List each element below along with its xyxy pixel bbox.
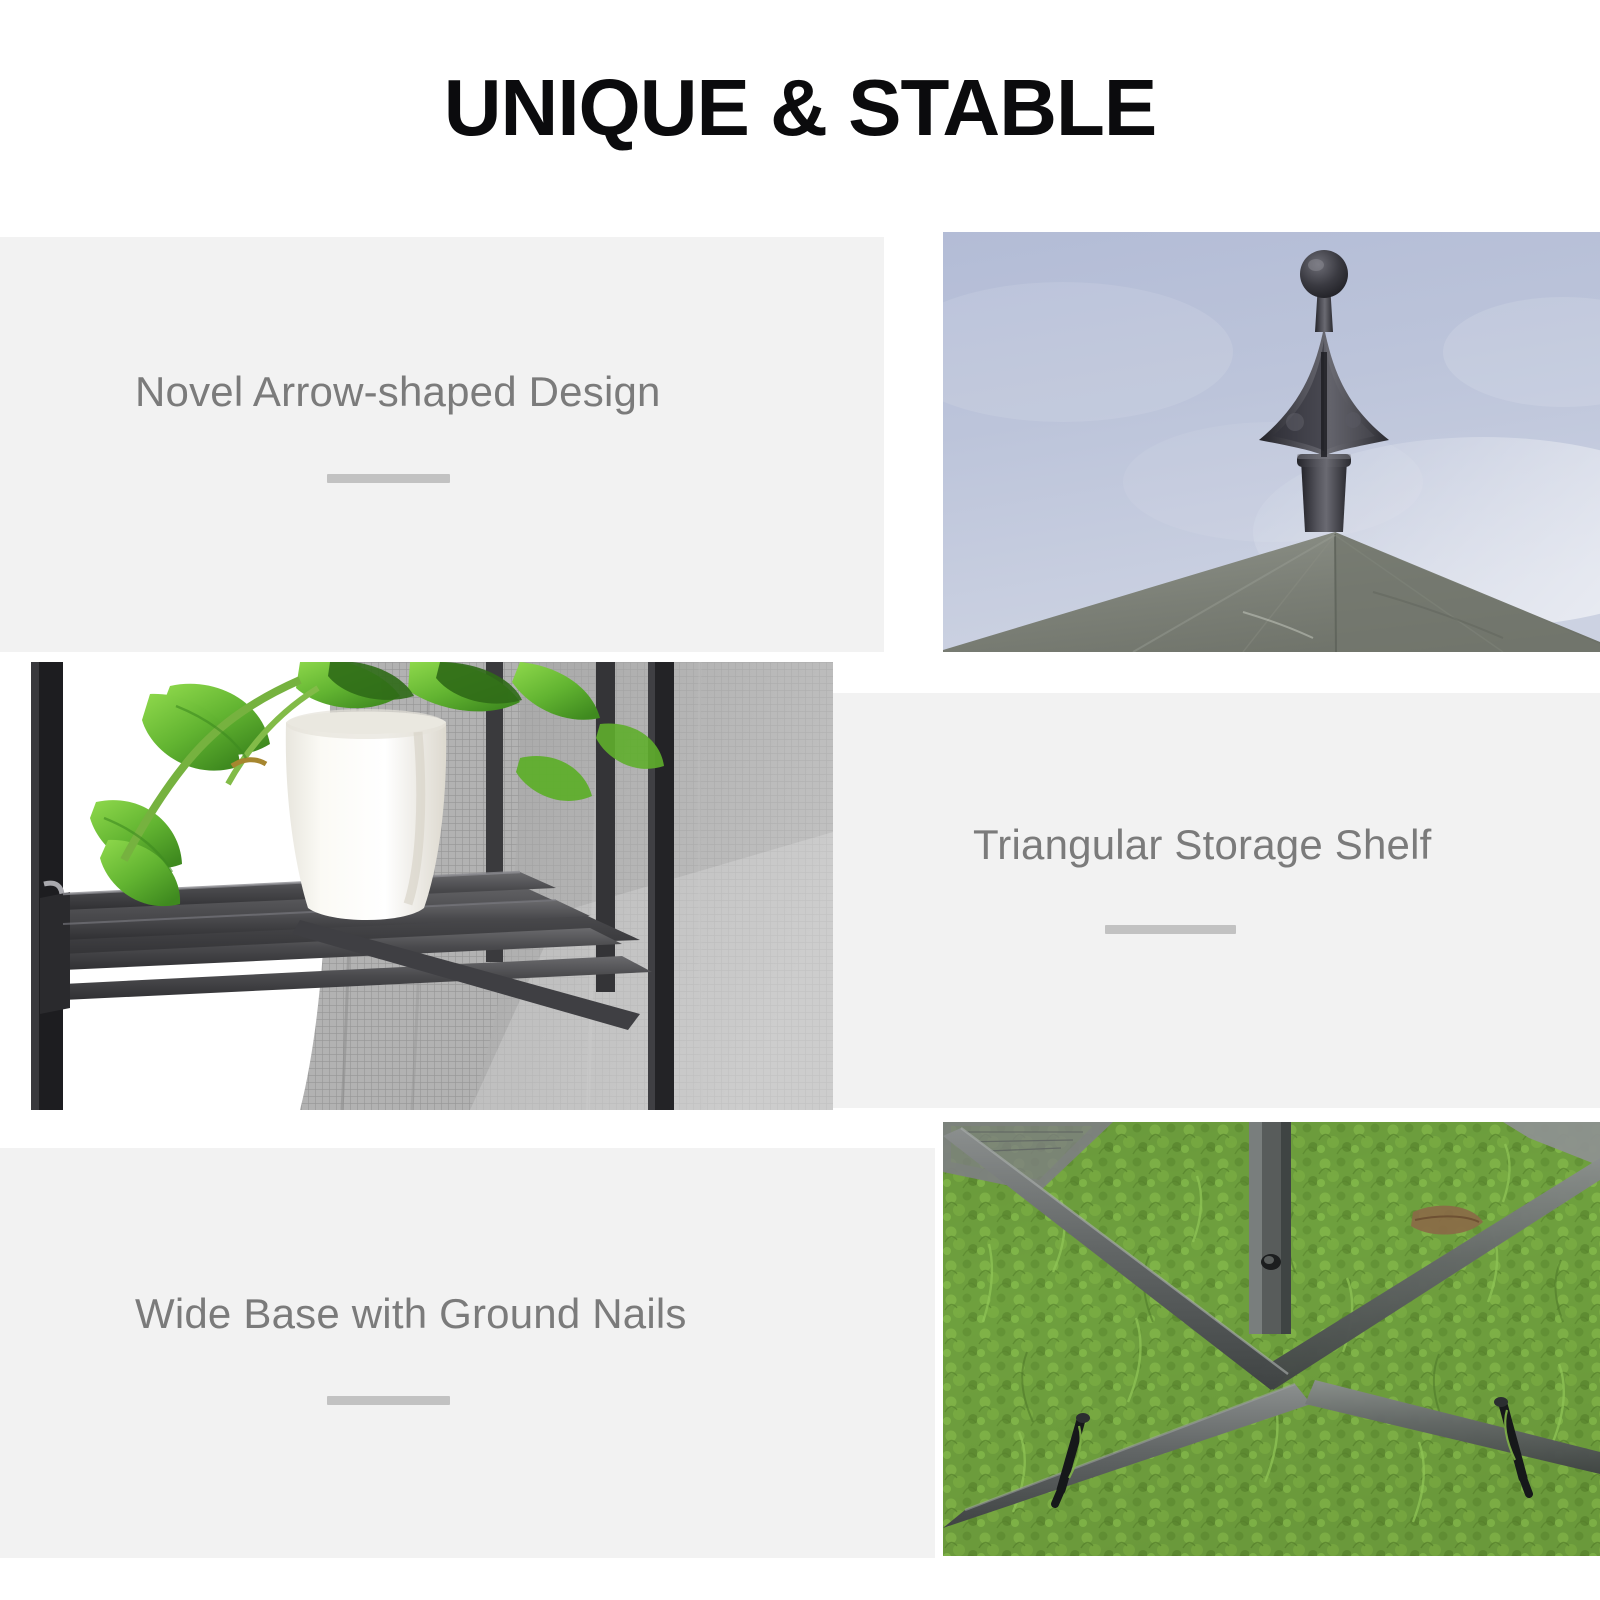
- page-title: UNIQUE & STABLE: [0, 68, 1600, 148]
- ground-nails-photo: [943, 1122, 1600, 1556]
- feature-panel-arrow-design: [0, 237, 884, 652]
- feature-panel-ground-nails: [0, 1148, 935, 1558]
- feature-divider-ground-nails: [327, 1396, 450, 1405]
- feature-caption-storage-shelf: Triangular Storage Shelf: [973, 821, 1432, 869]
- infographic-page: UNIQUE & STABLE Novel Arrow-shaped Desig…: [0, 0, 1600, 1600]
- gazebo-finial-photo: [943, 232, 1600, 652]
- feature-caption-arrow-design: Novel Arrow-shaped Design: [135, 368, 661, 416]
- feature-caption-ground-nails: Wide Base with Ground Nails: [135, 1290, 687, 1338]
- feature-panel-storage-shelf: Triangular Storage Shelf: [833, 693, 1600, 1108]
- ground-nails-illustration: [943, 1122, 1600, 1556]
- feature-divider-storage-shelf: [1105, 925, 1236, 934]
- triangular-shelf-illustration: [0, 662, 833, 1110]
- triangular-shelf-photo: [0, 662, 833, 1110]
- gazebo-finial-illustration: [943, 232, 1600, 652]
- feature-divider-arrow-design: [327, 474, 450, 483]
